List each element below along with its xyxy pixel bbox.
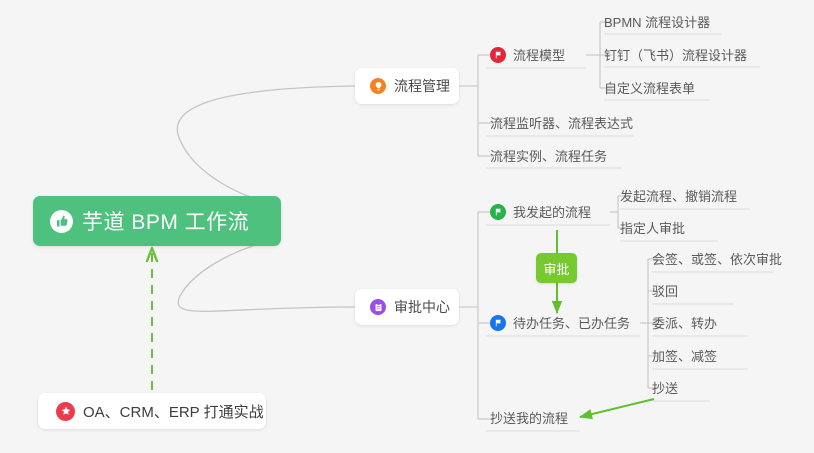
branch-node-process-mgmt[interactable]: 流程管理	[355, 68, 459, 104]
flag-icon	[490, 315, 506, 331]
leaf-todo-done-tasks[interactable]: 待办任务、已办任务	[490, 309, 630, 337]
leaf-reject[interactable]: 驳回	[652, 277, 678, 305]
leaf-start-cancel-process[interactable]: 发起流程、撤销流程	[620, 182, 737, 210]
branch-label: 审批中心	[394, 297, 450, 317]
leaf-label: 会签、或签、依次审批	[652, 253, 782, 266]
leaf-dingtalk-designer[interactable]: 钉钉（飞书）流程设计器	[604, 41, 747, 69]
edge-root-to-process-mgmt	[177, 86, 355, 205]
leaf-label: 流程模型	[513, 49, 565, 62]
leaf-label: 指定人审批	[620, 222, 685, 235]
flag-icon	[490, 204, 506, 220]
leaf-label: 委派、转办	[652, 317, 717, 330]
callout-label: OA、CRM、ERP 打通实战	[83, 401, 264, 422]
branch-label: 流程管理	[394, 76, 450, 96]
leaf-my-started-process[interactable]: 我发起的流程	[490, 198, 591, 226]
leaf-cc-my-process[interactable]: 抄送我的流程	[490, 404, 568, 432]
branch-node-approval-center[interactable]: 审批中心	[355, 289, 459, 325]
star-icon	[56, 402, 75, 421]
flag-icon	[490, 47, 506, 63]
leaf-label: 抄送我的流程	[490, 412, 568, 425]
root-label: 芋道 BPM 工作流	[82, 206, 249, 236]
leaf-label: 抄送	[652, 382, 678, 395]
leaf-label: 流程实例、流程任务	[490, 150, 607, 163]
leaf-add-remove-sign[interactable]: 加签、减签	[652, 342, 717, 370]
approve-tag[interactable]: 审批	[536, 253, 577, 283]
leaf-custom-form[interactable]: 自定义流程表单	[604, 74, 695, 102]
callout-oa-integration[interactable]: OA、CRM、ERP 打通实战	[38, 393, 266, 429]
approve-tag-label: 审批	[543, 259, 569, 278]
mindmap-canvas: 芋道 BPM 工作流 流程管理 流程模型 BPMN 流程设计器 钉钉（飞书）流程…	[0, 0, 814, 453]
leaf-label: 钉钉（飞书）流程设计器	[604, 49, 747, 62]
clipboard-icon	[370, 299, 386, 315]
leaf-countersign[interactable]: 会签、或签、依次审批	[652, 245, 782, 273]
leaf-label: 待办任务、已办任务	[513, 317, 630, 330]
thumbs-up-icon	[50, 210, 73, 233]
lightbulb-icon	[370, 78, 386, 94]
leaf-delegate-transfer[interactable]: 委派、转办	[652, 309, 717, 337]
leaf-process-model[interactable]: 流程模型	[490, 41, 565, 69]
leaf-label: 我发起的流程	[513, 206, 591, 219]
leaf-bpmn-designer[interactable]: BPMN 流程设计器	[604, 8, 710, 36]
leaf-label: 流程监听器、流程表达式	[490, 117, 633, 130]
edge-root-to-approval-center	[178, 239, 355, 311]
leaf-label: 加签、减签	[652, 350, 717, 363]
leaf-label: 发起流程、撤销流程	[620, 190, 737, 203]
leaf-process-instance[interactable]: 流程实例、流程任务	[490, 142, 607, 170]
leaf-assignee-approval[interactable]: 指定人审批	[620, 214, 685, 242]
leaf-process-listener[interactable]: 流程监听器、流程表达式	[490, 109, 633, 137]
leaf-label: BPMN 流程设计器	[604, 16, 710, 29]
leaf-cc[interactable]: 抄送	[652, 374, 678, 402]
leaf-label: 自定义流程表单	[604, 82, 695, 95]
arrow-cc-to-cc-my-process	[580, 399, 654, 417]
root-node[interactable]: 芋道 BPM 工作流	[33, 196, 281, 246]
leaf-label: 驳回	[652, 285, 678, 298]
